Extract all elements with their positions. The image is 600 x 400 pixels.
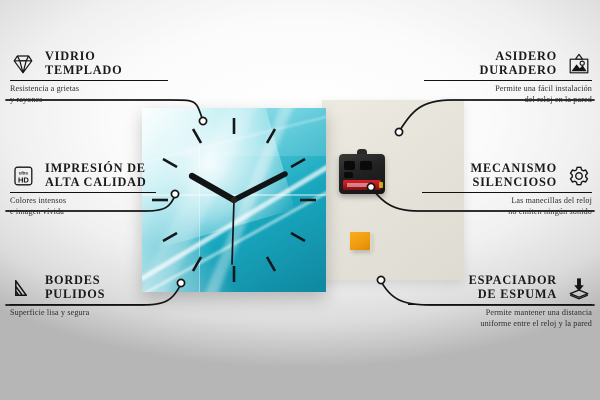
second-hand (232, 200, 234, 264)
feature-description: Permite mantener una distancia uniforme … (406, 308, 592, 328)
picture-hanger-icon (566, 52, 592, 76)
feature-espaciador-espuma: ESPACIADOR DE ESPUMA Permite mantener un… (406, 274, 592, 329)
mechanism-slot (360, 161, 372, 170)
feature-vidrio-templado: VIDRIO TEMPLADO Resistencia a grietas y … (10, 50, 170, 105)
feature-title: VIDRIO TEMPLADO (45, 50, 122, 77)
foam-spacer-edge (370, 233, 374, 254)
feature-title: ASIDERO DURADERO (480, 50, 557, 77)
gear-icon (566, 164, 592, 188)
feature-title: ESPACIADOR DE ESPUMA (469, 274, 557, 301)
feature-asidero-duradero: ASIDERO DURADERO Permite una fácil insta… (422, 50, 592, 105)
infographic-canvas: VIDRIO TEMPLADO Resistencia a grietas y … (0, 0, 600, 400)
feature-divider (10, 304, 150, 305)
battery-terminal (379, 182, 383, 188)
diamond-icon (10, 52, 36, 76)
feature-description: Permite una fácil instalación del reloj … (422, 84, 592, 104)
svg-text:HD: HD (18, 175, 29, 184)
feature-description: Colores intensos e imagen vívida (10, 196, 158, 216)
glass-wall-clock (142, 108, 326, 292)
feature-bordes-pulidos: BORDES PULIDOS Superficie lisa y segura (10, 274, 152, 319)
minute-hand (234, 174, 285, 200)
feature-title: IMPRESIÓN DE ALTA CALIDAD (45, 162, 147, 189)
ultra-hd-icon: ultra HD (10, 164, 36, 188)
foam-spacer (350, 232, 370, 250)
mechanism-slot (344, 161, 355, 170)
feature-title: BORDES PULIDOS (45, 274, 105, 301)
feature-divider (408, 304, 592, 305)
clock-dial (142, 108, 326, 292)
feature-divider (422, 192, 592, 193)
hour-hand (192, 176, 234, 200)
polished-edges-icon (10, 276, 36, 300)
mechanism-housing (339, 154, 385, 194)
feature-description: Superficie lisa y segura (10, 308, 152, 318)
feature-title: MECANISMO SILENCIOSO (471, 162, 557, 189)
clock-mechanism (339, 154, 385, 194)
battery-label (347, 183, 369, 187)
clock-center-cap (231, 197, 237, 203)
foam-spacer-icon (566, 276, 592, 300)
mechanism-slot (344, 172, 353, 178)
feature-divider (10, 192, 156, 193)
feature-description: Resistencia a grietas y rayones (10, 84, 170, 104)
feature-mecanismo-silencioso: MECANISMO SILENCIOSO Las manecillas del … (420, 162, 592, 217)
feature-divider (424, 80, 592, 81)
feature-description: Las manecillas del reloj no emiten ningú… (420, 196, 592, 216)
feature-impresion-alta-calidad: ultra HD IMPRESIÓN DE ALTA CALIDAD Color… (10, 162, 158, 217)
feature-divider (10, 80, 168, 81)
battery (343, 180, 381, 190)
